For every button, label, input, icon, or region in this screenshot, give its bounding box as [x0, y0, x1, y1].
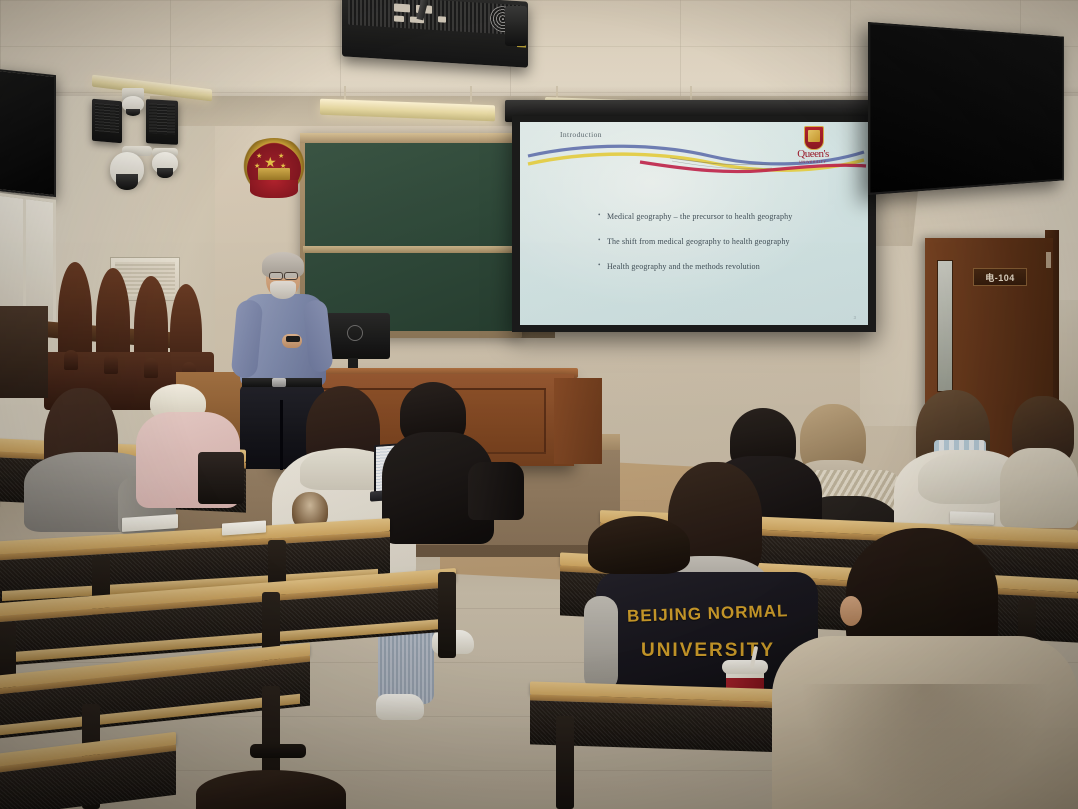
presentation-slide: Introduction Queen's UNIVERSITY Medical … — [520, 122, 868, 325]
desk-post-b3 — [438, 572, 456, 658]
chalkboard-ledge — [303, 246, 519, 253]
room-number-sign: 电-104 — [973, 268, 1027, 286]
lecture-hall-photo: ★ ★ ★ ★ ★ — [0, 0, 1078, 809]
left-window — [0, 192, 56, 324]
wall-tv-right — [868, 22, 1064, 195]
paper-sheet-3 — [950, 511, 994, 525]
emblem-star-small-1: ★ — [256, 152, 262, 160]
wall-speaker-2 — [146, 99, 178, 145]
lecturer-beard — [270, 281, 296, 299]
projector-port-3 — [394, 15, 404, 22]
foreground-student-coat-shadow — [800, 684, 1050, 809]
emblem-tiananmen-gate — [258, 168, 290, 180]
chalkboard-frame — [300, 133, 522, 338]
ptz-dome-camera-2 — [152, 152, 178, 174]
podium-side-panel — [554, 378, 602, 464]
door-vision-panel — [937, 260, 953, 392]
queens-crest-icon — [804, 126, 824, 150]
ceiling-projector — [342, 0, 528, 68]
queens-wordmark: Queen's — [782, 149, 844, 160]
projector-port-5 — [438, 16, 446, 22]
student-pink-jacket-bag — [198, 452, 244, 504]
emblem-ribbon — [250, 180, 298, 198]
slide-bullet-3: Health geography and the methods revolut… — [598, 262, 868, 271]
slide-page-number: 3 — [853, 315, 856, 320]
carved-finial-2 — [104, 354, 118, 374]
pendant-rod-2 — [470, 86, 472, 102]
varsity-grey-sleeve — [584, 596, 618, 692]
door-hinge-top — [1046, 252, 1051, 268]
lecturer-trouser-seam — [280, 400, 283, 470]
china-national-emblem-icon: ★ ★ ★ ★ ★ — [236, 134, 312, 206]
cup-lid — [722, 660, 768, 674]
right-back-body — [1000, 448, 1078, 528]
chalkboard-top-rail — [300, 133, 522, 143]
cream-hoodie-hood — [918, 452, 1010, 504]
ptz-dome-camera-1 — [110, 152, 144, 186]
window-mullion — [23, 199, 26, 317]
mid-front-hair — [588, 516, 690, 574]
student-sneaker-left — [376, 694, 424, 720]
queens-subtext: UNIVERSITY — [782, 160, 844, 164]
desk-foot-c2 — [250, 744, 306, 758]
ceiling-camera — [122, 96, 144, 112]
varsity-text-left: BEIJING NORMAL — [626, 583, 789, 645]
black-jacket-arm — [468, 462, 524, 520]
carved-finial-3 — [144, 358, 158, 378]
wall-tv-left — [0, 69, 56, 197]
presentation-clicker — [286, 336, 300, 342]
monitor-logo-icon — [347, 325, 363, 341]
varsity-jacket-text-line1: BEIJING NORMAL — [600, 586, 816, 642]
desk-post-front-r — [556, 716, 574, 809]
foreground-student-ear — [840, 596, 862, 626]
lecturer-belt-buckle — [272, 378, 286, 387]
slide-bullet-2: The shift from medical geography to heal… — [598, 237, 868, 246]
chalkboard — [305, 141, 517, 331]
side-cabinet-left — [0, 306, 48, 398]
wall-speaker-1 — [92, 99, 122, 144]
carved-finial-1 — [64, 350, 78, 370]
lecturer-glasses-right — [284, 272, 298, 280]
slide-bullet-list: Medical geography – the precursor to hea… — [558, 212, 868, 287]
queens-university-logo: Queen's UNIVERSITY — [782, 126, 844, 168]
projector-port-1 — [394, 3, 410, 12]
lecturer-glasses-left — [269, 272, 283, 280]
emblem-star-small-3: ★ — [278, 152, 284, 160]
slide-bullet-1: Medical geography – the precursor to hea… — [598, 212, 868, 221]
projector-lens-housing — [505, 6, 527, 46]
room-number-text: 电-104 — [985, 271, 1015, 284]
